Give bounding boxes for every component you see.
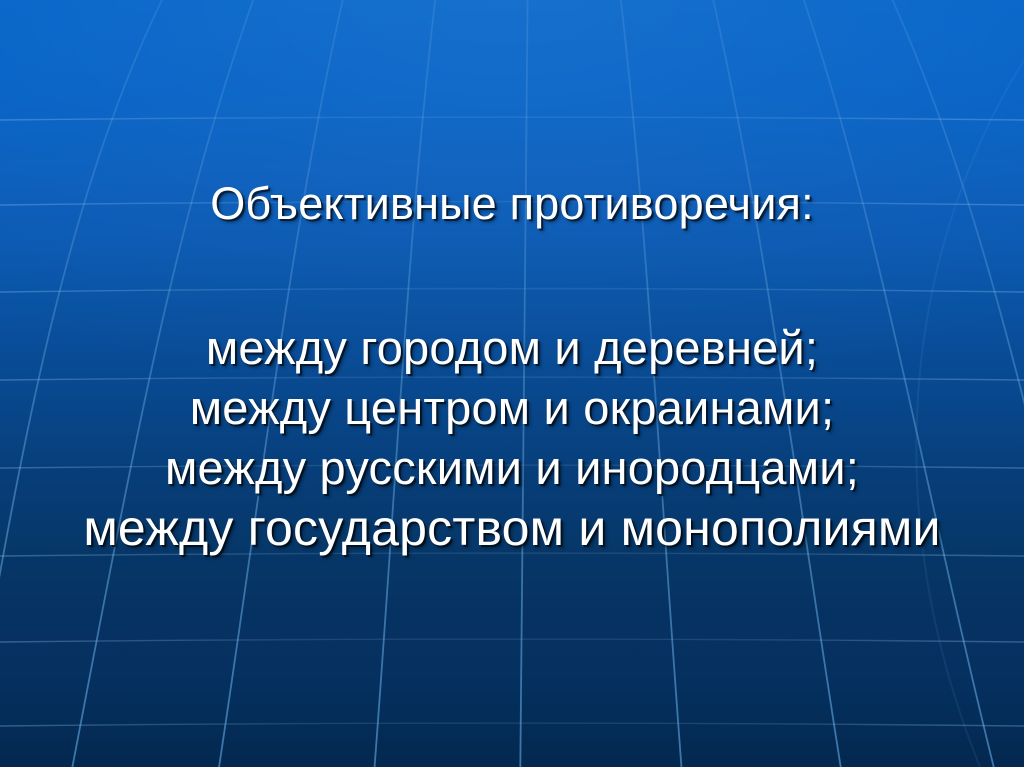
- slide-body-list: между городом и деревней; между центром …: [0, 318, 1024, 558]
- slide-body-line-3: между русскими и инородцами;: [0, 438, 1024, 498]
- slide-body-line-2: между центром и окраинами;: [0, 378, 1024, 438]
- presentation-slide: Объективные противоречия: между городом …: [0, 0, 1024, 767]
- slide-body-line-4: между государством и монополиями: [0, 498, 1024, 558]
- slide-body-line-1: между городом и деревней;: [0, 318, 1024, 378]
- slide-content: Объективные противоречия: между городом …: [0, 0, 1024, 767]
- slide-title: Объективные противоречия:: [0, 180, 1024, 227]
